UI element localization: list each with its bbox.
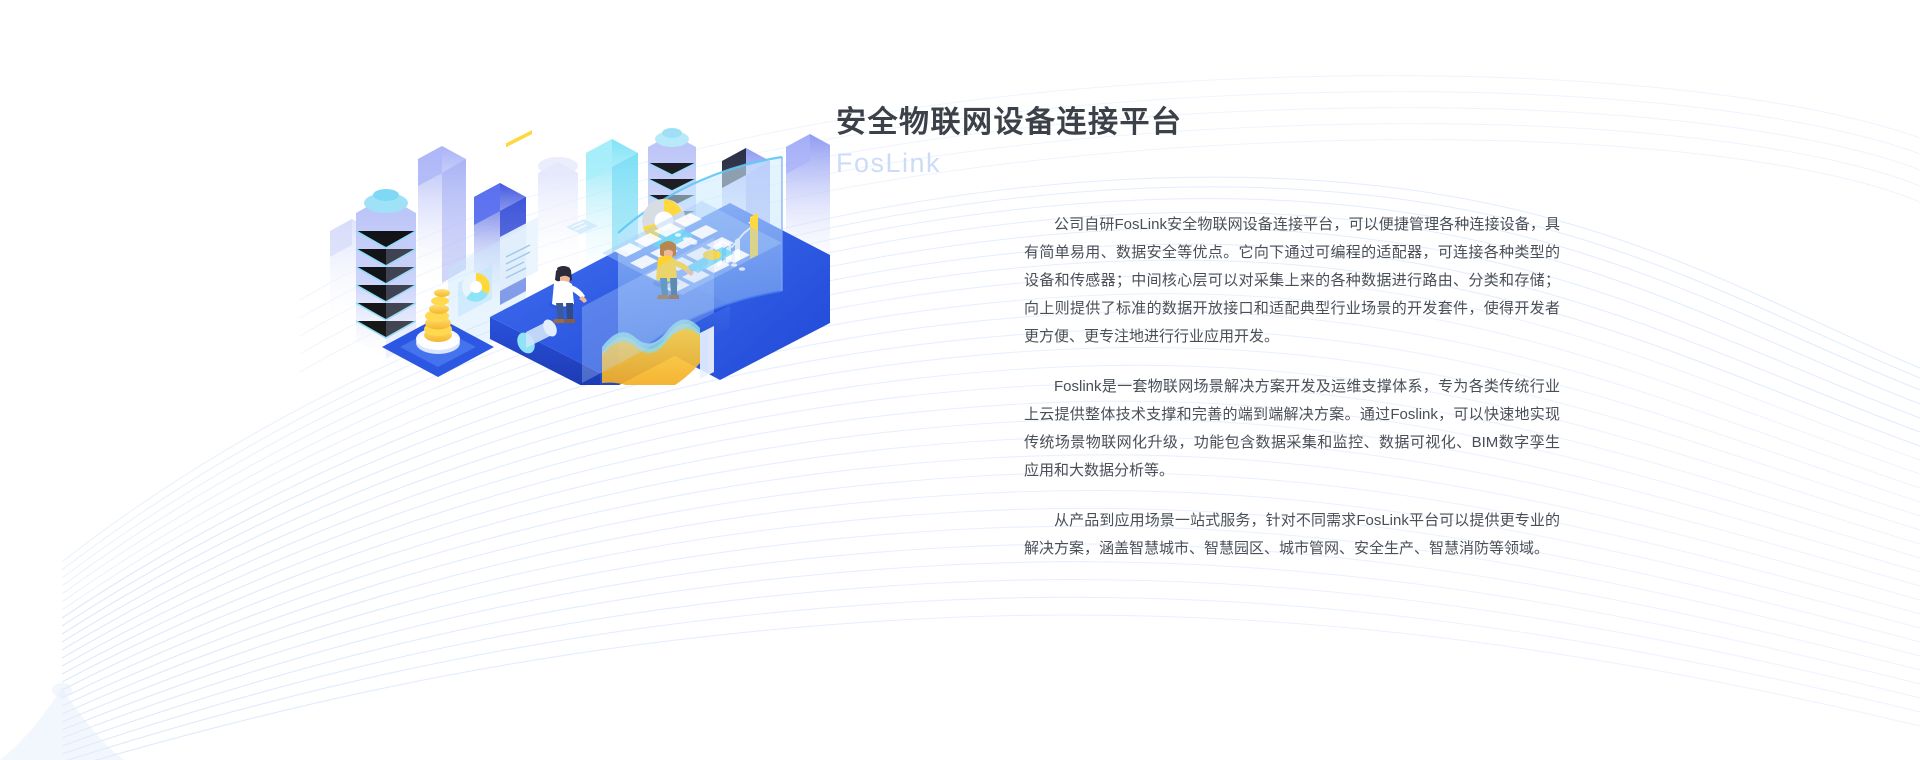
paragraph-1: 公司自研FosLink安全物联网设备连接平台，可以便捷管理各种连接设备，具有简单… xyxy=(1024,211,1560,351)
skyscraper-pale-center xyxy=(538,157,578,274)
page-title: 安全物联网设备连接平台 xyxy=(836,104,1560,142)
coin-stack xyxy=(424,289,452,342)
description-block: 公司自研FosLink安全物联网设备连接平台，可以便捷管理各种连接设备，具有简单… xyxy=(1024,211,1560,563)
paragraph-3: 从产品到应用场景一站式服务，针对不同需求FosLink平台可以提供更专业的解决方… xyxy=(1024,507,1560,563)
content-column: 安全物联网设备连接平台 FosLink 公司自研FosLink安全物联网设备连接… xyxy=(1024,104,1560,563)
tower-building-left xyxy=(356,189,416,359)
paragraph-2: Foslink是一套物联网场景解决方案开发及运维支撑体系，专为各类传统行业上云提… xyxy=(1024,373,1560,485)
iot-platform-illustration xyxy=(330,55,830,385)
page-subtitle: FosLink xyxy=(836,145,1560,181)
page-root: 安全物联网设备连接平台 FosLink 公司自研FosLink安全物联网设备连接… xyxy=(0,0,1920,760)
